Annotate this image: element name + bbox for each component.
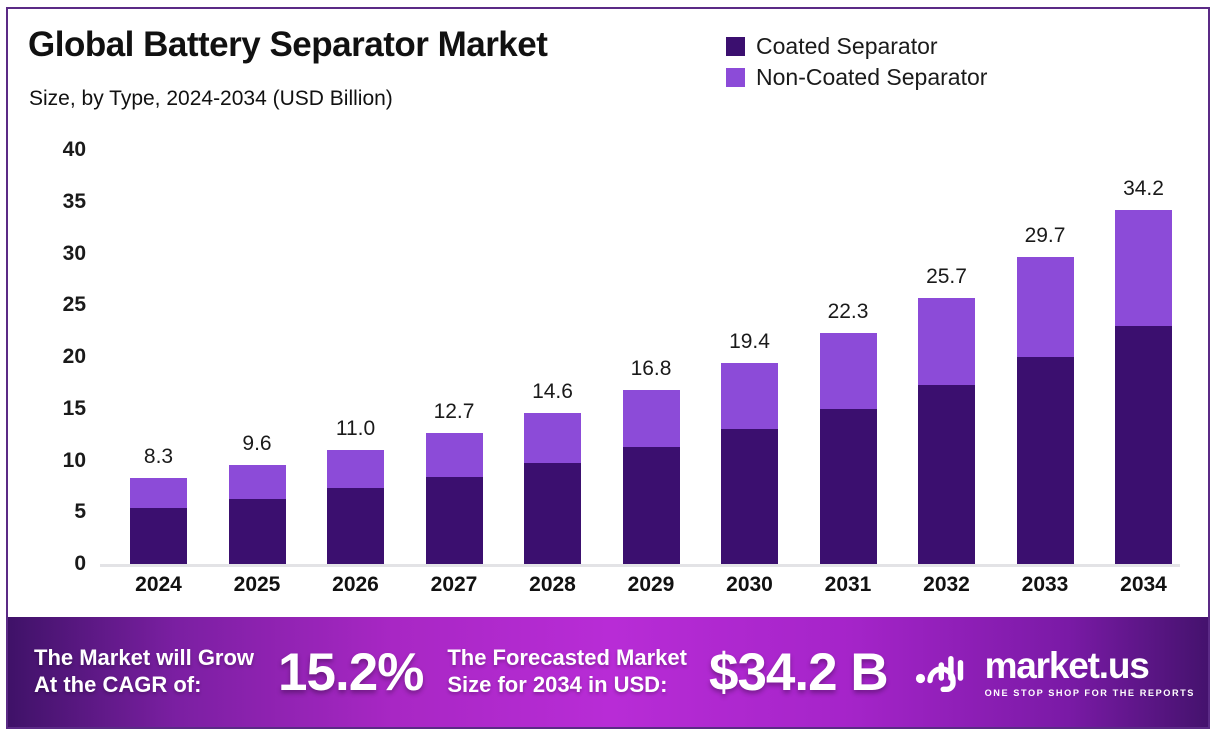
brand-tagline: ONE STOP SHOP FOR THE REPORTS [985,688,1195,698]
cagr-caption-line1: The Market will Grow [34,645,254,672]
bar-segment-coated-separator[interactable] [820,409,877,564]
bar-stack[interactable]: 34.2 [1115,210,1172,564]
bar-total-label: 25.7 [926,265,967,289]
x-axis-tick-label: 2026 [327,573,384,597]
forecast-caption: The Forecasted Market Size for 2034 in U… [447,645,687,699]
forecast-value: $34.2 B [709,642,888,703]
x-axis-tick-label: 2027 [426,573,483,597]
y-axis-tick-label: 30 [63,242,86,266]
bar-total-label: 29.7 [1025,224,1066,248]
chart-footer-banner: The Market will Grow At the CAGR of: 15.… [8,617,1210,727]
x-axis-tick-label: 2028 [524,573,581,597]
cagr-caption: The Market will Grow At the CAGR of: [34,645,254,699]
y-axis-tick-label: 40 [63,138,86,162]
bar-series-container: 8.39.611.012.714.616.819.422.325.729.734… [100,127,1180,564]
x-axis-tick-label: 2032 [918,573,975,597]
bar-segment-coated-separator[interactable] [623,447,680,564]
legend-swatch-icon [726,37,745,56]
y-axis-tick-label: 10 [63,449,86,473]
cagr-value: 15.2% [278,642,423,703]
chart-plot-area: 0510152025303540 8.39.611.012.714.616.81… [8,127,1210,617]
bar-stack[interactable]: 12.7 [426,433,483,564]
bar-segment-non-coated-separator[interactable] [1115,210,1172,326]
chart-subtitle: Size, by Type, 2024-2034 (USD Billion) [29,87,393,111]
x-axis-tick-label: 2025 [229,573,286,597]
y-axis-tick-label: 5 [74,500,86,524]
bar-total-label: 12.7 [434,400,475,424]
bar-stack[interactable]: 16.8 [623,390,680,564]
bar-stack[interactable]: 11.0 [327,450,384,564]
y-axis: 0510152025303540 [8,127,94,567]
bar-segment-non-coated-separator[interactable] [524,413,581,463]
page-title: Global Battery Separator Market [28,25,547,65]
brand-text: market.us ONE STOP SHOP FOR THE REPORTS [985,647,1195,698]
bar-segment-coated-separator[interactable] [229,499,286,564]
x-axis-tick-label: 2030 [721,573,778,597]
y-axis-tick-label: 0 [74,552,86,576]
bar-segment-non-coated-separator[interactable] [1017,257,1074,357]
bar-segment-non-coated-separator[interactable] [820,333,877,409]
bar-segment-coated-separator[interactable] [721,429,778,564]
x-axis-tick-label: 2033 [1017,573,1074,597]
chart-card: Global Battery Separator Market Size, by… [6,7,1210,729]
brand-name: market.us [985,647,1195,684]
legend-swatch-icon [726,68,745,87]
bar-total-label: 8.3 [144,445,173,469]
bar-total-label: 22.3 [828,300,869,324]
y-axis-tick-label: 35 [63,190,86,214]
bar-segment-non-coated-separator[interactable] [130,478,187,508]
x-axis: 2024202520262027202820292030203120322033… [100,573,1180,613]
x-axis-tick-label: 2034 [1115,573,1172,597]
bar-segment-coated-separator[interactable] [1017,357,1074,564]
bar-segment-non-coated-separator[interactable] [426,433,483,478]
bar-segment-non-coated-separator[interactable] [623,390,680,447]
bar-stack[interactable]: 22.3 [820,333,877,564]
bar-stack[interactable]: 8.3 [130,478,187,564]
bar-stack[interactable]: 9.6 [229,465,286,564]
forecast-caption-line1: The Forecasted Market [447,645,687,672]
x-axis-line [100,564,1180,567]
bar-stack[interactable]: 25.7 [918,298,975,564]
cagr-caption-line2: At the CAGR of: [34,672,254,699]
bar-segment-coated-separator[interactable] [426,477,483,564]
y-axis-tick-label: 15 [63,397,86,421]
bar-stack[interactable]: 29.7 [1017,257,1074,564]
chart-header: Global Battery Separator Market Size, by… [8,9,1208,127]
bar-total-label: 34.2 [1123,177,1164,201]
bar-segment-non-coated-separator[interactable] [918,298,975,385]
legend-label: Coated Separator [756,33,938,60]
bar-total-label: 11.0 [336,417,375,441]
bar-total-label: 16.8 [631,357,672,381]
bar-segment-coated-separator[interactable] [130,508,187,564]
bar-total-label: 14.6 [532,380,573,404]
bar-segment-coated-separator[interactable] [524,463,581,564]
x-axis-tick-label: 2031 [820,573,877,597]
bar-segment-coated-separator[interactable] [1115,326,1172,564]
legend-label: Non-Coated Separator [756,64,987,91]
brand-logo: market.us ONE STOP SHOP FOR THE REPORTS [914,647,1195,698]
bar-segment-non-coated-separator[interactable] [229,465,286,499]
legend-item-non-coated-separator: Non-Coated Separator [726,62,987,93]
bar-segment-coated-separator[interactable] [327,488,384,564]
forecast-caption-line2: Size for 2034 in USD: [447,672,687,699]
chart-legend: Coated Separator Non-Coated Separator [726,31,987,93]
bar-stack[interactable]: 19.4 [721,363,778,564]
bar-segment-non-coated-separator[interactable] [721,363,778,429]
bar-total-label: 9.6 [242,432,271,456]
bar-segment-non-coated-separator[interactable] [327,450,384,488]
x-axis-tick-label: 2029 [623,573,680,597]
bar-total-label: 19.4 [729,330,770,354]
y-axis-tick-label: 25 [63,293,86,317]
x-axis-tick-label: 2024 [130,573,187,597]
y-axis-tick-label: 20 [63,345,86,369]
market-us-logo-icon [914,650,976,694]
legend-item-coated-separator: Coated Separator [726,31,987,62]
bar-stack[interactable]: 14.6 [524,413,581,564]
bar-segment-coated-separator[interactable] [918,385,975,564]
